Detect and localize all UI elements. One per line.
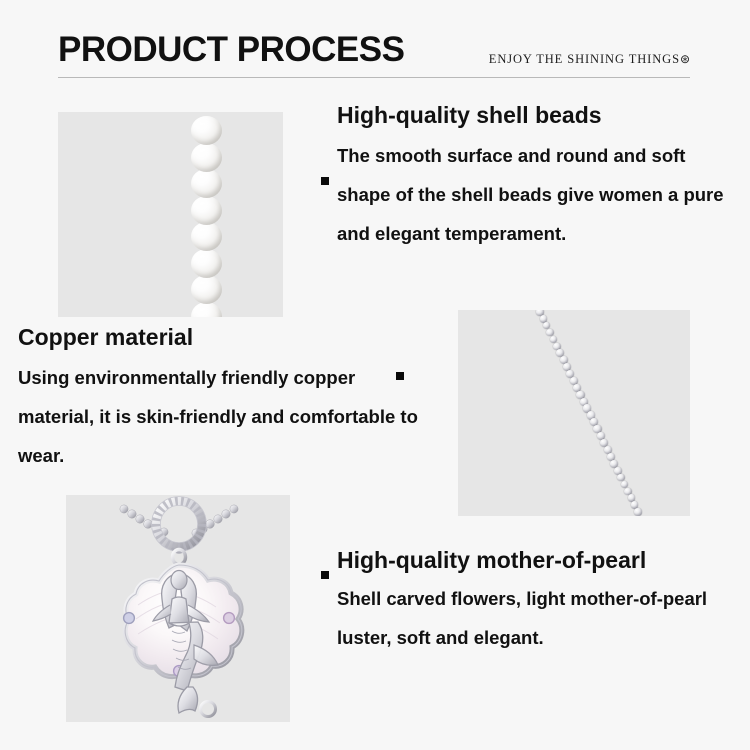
bullet-marker-mother-of-pearl <box>321 571 329 579</box>
ball-chain-graphic <box>458 310 690 516</box>
registered-star-icon: ⊛ <box>680 52 690 66</box>
pearl-bead <box>191 169 222 198</box>
section-mother-of-pearl: High-quality mother-of-pearl Shell carve… <box>337 545 737 657</box>
bottom-dangle-bead <box>201 702 216 717</box>
page-title: PRODUCT PROCESS <box>58 28 404 72</box>
section-heading-copper-material: Copper material <box>18 322 418 352</box>
pearl-bead <box>191 249 222 278</box>
brand-tagline: ENJOY THE SHINING THINGS⊛ <box>489 52 690 67</box>
product-process-infographic: PRODUCT PROCESS ENJOY THE SHINING THINGS… <box>0 0 750 750</box>
chain-bead <box>634 508 641 515</box>
pendant-bail <box>172 548 186 565</box>
pearl-bead <box>191 196 222 225</box>
section-heading-mother-of-pearl: High-quality mother-of-pearl <box>337 545 737 575</box>
pearl-bead <box>191 275 222 304</box>
pearl-bead <box>191 222 222 251</box>
silver-ball-chain-photo <box>458 310 690 516</box>
section-body-copper-material: Using environmentally friendly copper ma… <box>18 358 418 475</box>
section-body-mother-of-pearl: Shell carved flowers, light mother-of-pe… <box>337 579 737 657</box>
section-copper-material: Copper material Using environmentally fr… <box>18 322 418 475</box>
mermaid-pendant-graphic <box>66 495 290 722</box>
pearl-bead <box>191 143 222 172</box>
mermaid-shell-pendant-photo <box>66 495 290 722</box>
brand-tagline-text: ENJOY THE SHINING THINGS <box>489 52 680 66</box>
header-divider <box>58 77 690 78</box>
section-body-shell-beads: The smooth surface and round and soft sh… <box>337 136 737 253</box>
section-heading-shell-beads: High-quality shell beads <box>337 100 737 130</box>
header: PRODUCT PROCESS ENJOY THE SHINING THINGS… <box>58 28 690 80</box>
shell-pearl-strand-photo <box>58 112 283 317</box>
bullet-marker-shell-beads <box>321 177 329 185</box>
pave-ring-connector <box>152 497 207 552</box>
section-shell-beads: High-quality shell beads The smooth surf… <box>337 100 737 253</box>
pearl-bead <box>191 116 222 145</box>
